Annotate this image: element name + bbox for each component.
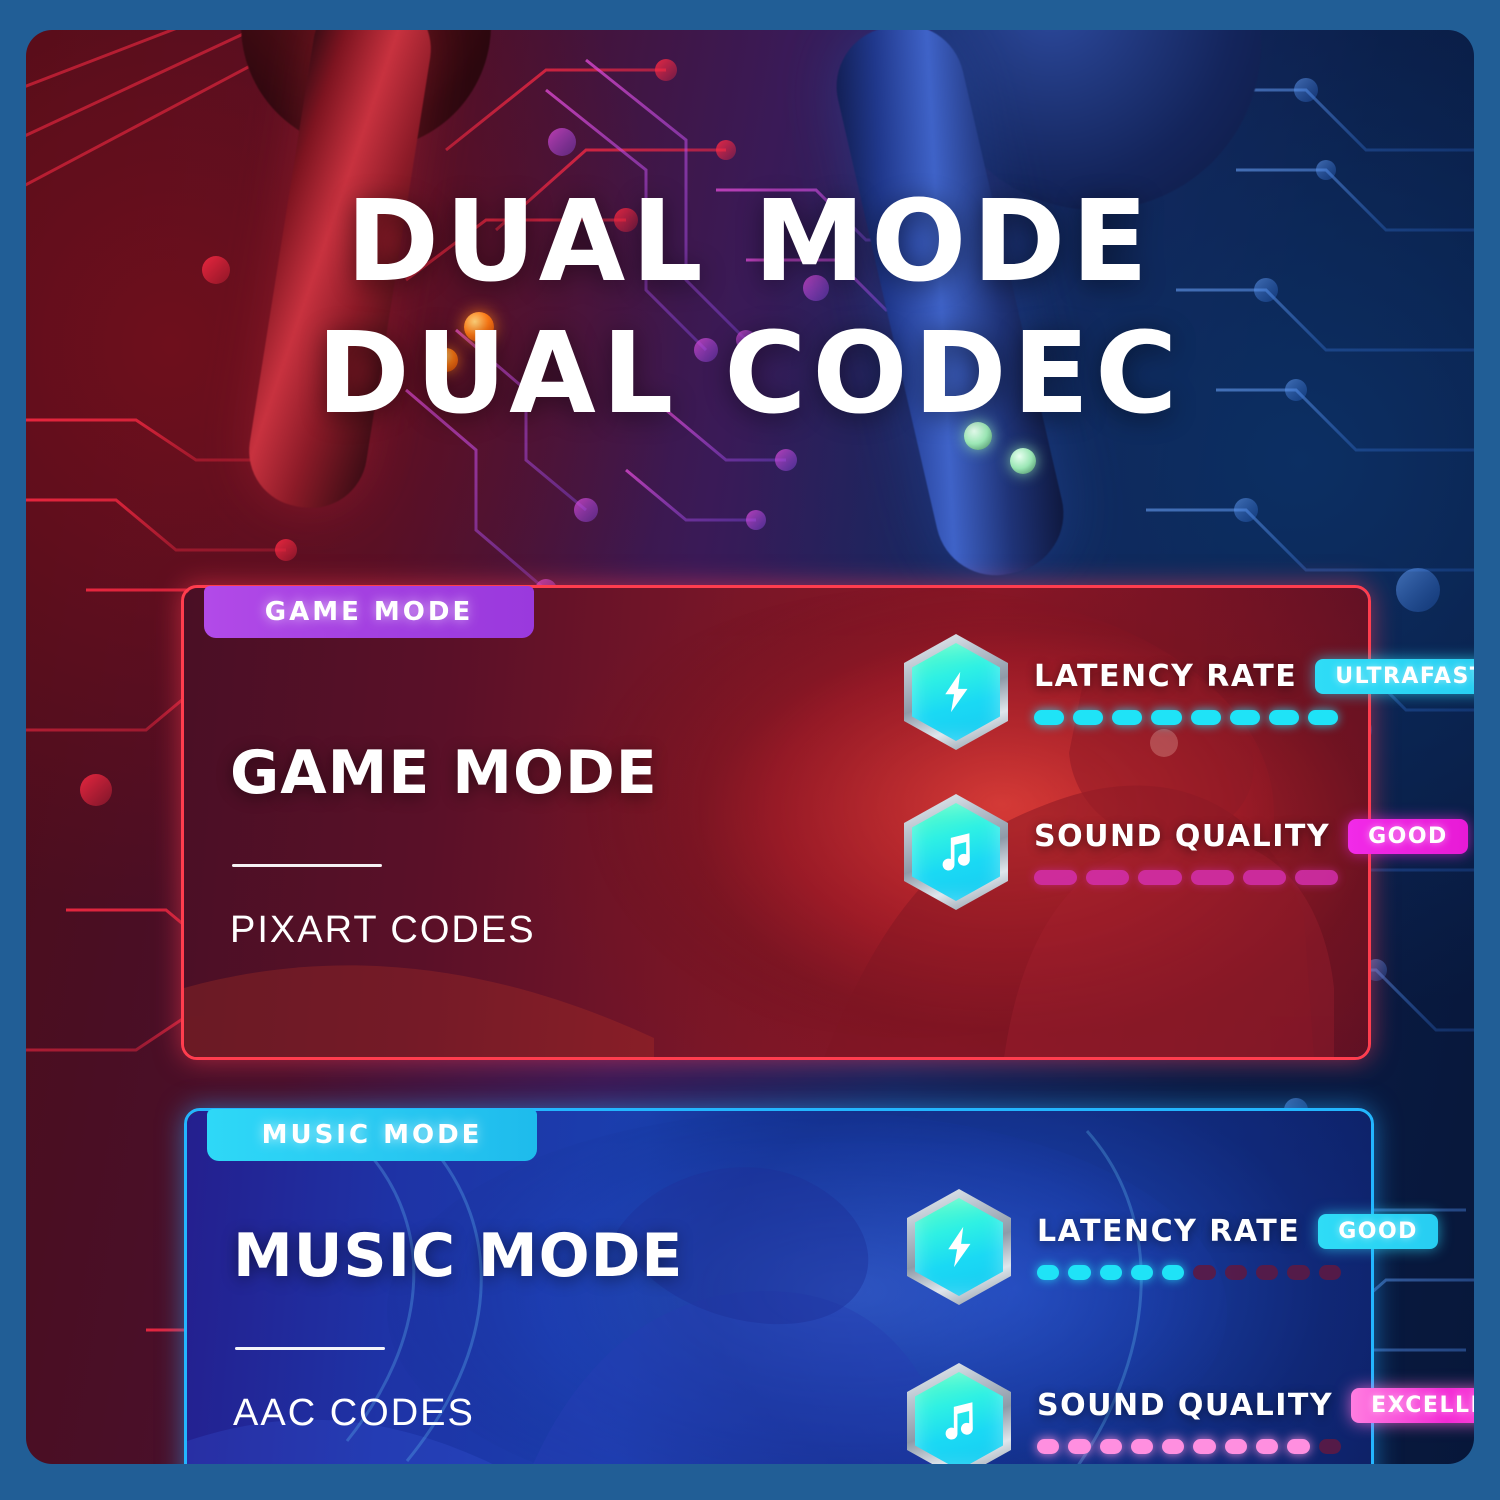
red-earbud-led-2: [434, 348, 458, 372]
segment-filled: [1225, 1439, 1247, 1454]
segment-filled: [1131, 1439, 1153, 1454]
music-latency-head: LATENCY RATE GOOD: [1037, 1214, 1341, 1249]
segment-filled: [1269, 710, 1299, 725]
lightning-bolt-icon: [907, 1189, 1011, 1305]
game-mode-divider: [232, 864, 382, 867]
poster-stage: DUAL MODE DUAL CODEC: [26, 30, 1474, 1464]
music-mode-stats: LATENCY RATE GOOD: [907, 1189, 1341, 1464]
music-mode-tab-label: MUSIC MODE: [262, 1120, 483, 1150]
segment-filled: [1100, 1265, 1122, 1280]
game-mode-text-block: GAME MODE PIXART CODES: [230, 738, 658, 952]
music-note-icon-face: [912, 803, 1000, 901]
game-mode-tab[interactable]: GAME MODE: [204, 586, 534, 638]
segment-filled: [1193, 1439, 1215, 1454]
red-earbud-led-1: [464, 312, 494, 342]
blue-earbud-led-2: [1010, 448, 1036, 474]
outer-frame: DUAL MODE DUAL CODEC: [0, 0, 1500, 1500]
music-note-icon: [907, 1363, 1011, 1464]
lightning-bolt-glyph: [933, 666, 979, 718]
music-note-icon: [904, 794, 1008, 910]
segment-filled: [1308, 710, 1338, 725]
music-sound-label: SOUND QUALITY: [1037, 1388, 1333, 1423]
segment-filled: [1034, 870, 1077, 885]
segment-filled: [1191, 710, 1221, 725]
segment-empty: [1319, 1439, 1341, 1454]
segment-filled: [1191, 870, 1234, 885]
music-mode-card[interactable]: MUSIC MODE MUSIC MODE AAC CODES: [184, 1108, 1374, 1464]
game-sound-stat-row: SOUND QUALITY GOOD: [904, 794, 1338, 910]
game-sound-rating-badge: GOOD: [1348, 819, 1468, 854]
segment-empty: [1319, 1265, 1341, 1280]
music-note-icon-face: [915, 1372, 1003, 1464]
segment-filled: [1243, 870, 1286, 885]
blue-earbud-led-1: [964, 422, 992, 450]
music-mode-text-block: MUSIC MODE AAC CODES: [233, 1221, 683, 1435]
music-mode-divider: [235, 1347, 385, 1350]
segment-filled: [1230, 710, 1260, 725]
segment-filled: [1034, 710, 1064, 725]
game-sound-stat: SOUND QUALITY GOOD: [1034, 819, 1338, 885]
segment-filled: [1256, 1439, 1278, 1454]
game-sound-label: SOUND QUALITY: [1034, 819, 1330, 854]
segment-filled: [1073, 710, 1103, 725]
segment-filled: [1037, 1439, 1059, 1454]
segment-empty: [1225, 1265, 1247, 1280]
game-mode-tab-label: GAME MODE: [265, 597, 473, 627]
lightning-bolt-icon-face: [912, 643, 1000, 741]
music-mode-codec: AAC CODES: [233, 1392, 683, 1435]
game-sound-head: SOUND QUALITY GOOD: [1034, 819, 1338, 854]
music-note-glyph: [933, 826, 979, 878]
segment-filled: [1151, 710, 1181, 725]
lightning-bolt-icon-face: [915, 1198, 1003, 1296]
game-mode-codec: PIXART CODES: [230, 909, 658, 952]
segment-filled: [1295, 870, 1338, 885]
game-latency-label: LATENCY RATE: [1034, 659, 1297, 694]
music-latency-stat-row: LATENCY RATE GOOD: [907, 1189, 1341, 1305]
lightning-bolt-icon: [904, 634, 1008, 750]
segment-filled: [1138, 870, 1181, 885]
game-mode-stats: LATENCY RATE ULTRAFAST: [904, 634, 1338, 910]
segment-filled: [1037, 1265, 1059, 1280]
game-latency-stat: LATENCY RATE ULTRAFAST: [1034, 659, 1338, 725]
segment-filled: [1100, 1439, 1122, 1454]
game-sound-segment-bar: [1034, 870, 1338, 885]
game-mode-title: GAME MODE: [230, 738, 658, 808]
segment-empty: [1287, 1265, 1309, 1280]
music-sound-segment-bar: [1037, 1439, 1341, 1454]
segment-filled: [1068, 1439, 1090, 1454]
segment-empty: [1193, 1265, 1215, 1280]
game-latency-segment-bar: [1034, 710, 1338, 725]
music-latency-label: LATENCY RATE: [1037, 1214, 1300, 1249]
segment-filled: [1131, 1265, 1153, 1280]
game-latency-head: LATENCY RATE ULTRAFAST: [1034, 659, 1338, 694]
music-mode-title: MUSIC MODE: [233, 1221, 683, 1291]
music-mode-tab[interactable]: MUSIC MODE: [207, 1109, 537, 1161]
segment-filled: [1162, 1265, 1184, 1280]
game-latency-stat-row: LATENCY RATE ULTRAFAST: [904, 634, 1338, 750]
game-latency-rating-badge: ULTRAFAST: [1315, 659, 1474, 694]
segment-filled: [1068, 1265, 1090, 1280]
music-latency-segment-bar: [1037, 1265, 1341, 1280]
game-mode-card[interactable]: GAME MODE GAME MODE PIXART CODES: [181, 585, 1371, 1060]
music-latency-rating-badge: GOOD: [1318, 1214, 1438, 1249]
music-sound-stat: SOUND QUALITY EXCELLENT: [1037, 1388, 1341, 1454]
segment-empty: [1256, 1265, 1278, 1280]
segment-filled: [1112, 710, 1142, 725]
segment-filled: [1162, 1439, 1184, 1454]
segment-filled: [1086, 870, 1129, 885]
music-note-glyph: [936, 1395, 982, 1447]
music-latency-stat: LATENCY RATE GOOD: [1037, 1214, 1341, 1280]
lightning-bolt-glyph: [936, 1221, 982, 1273]
music-sound-stat-row: SOUND QUALITY EXCELLENT: [907, 1363, 1341, 1464]
music-sound-rating-badge: EXCELLENT: [1351, 1388, 1474, 1423]
segment-filled: [1287, 1439, 1309, 1454]
music-sound-head: SOUND QUALITY EXCELLENT: [1037, 1388, 1341, 1423]
